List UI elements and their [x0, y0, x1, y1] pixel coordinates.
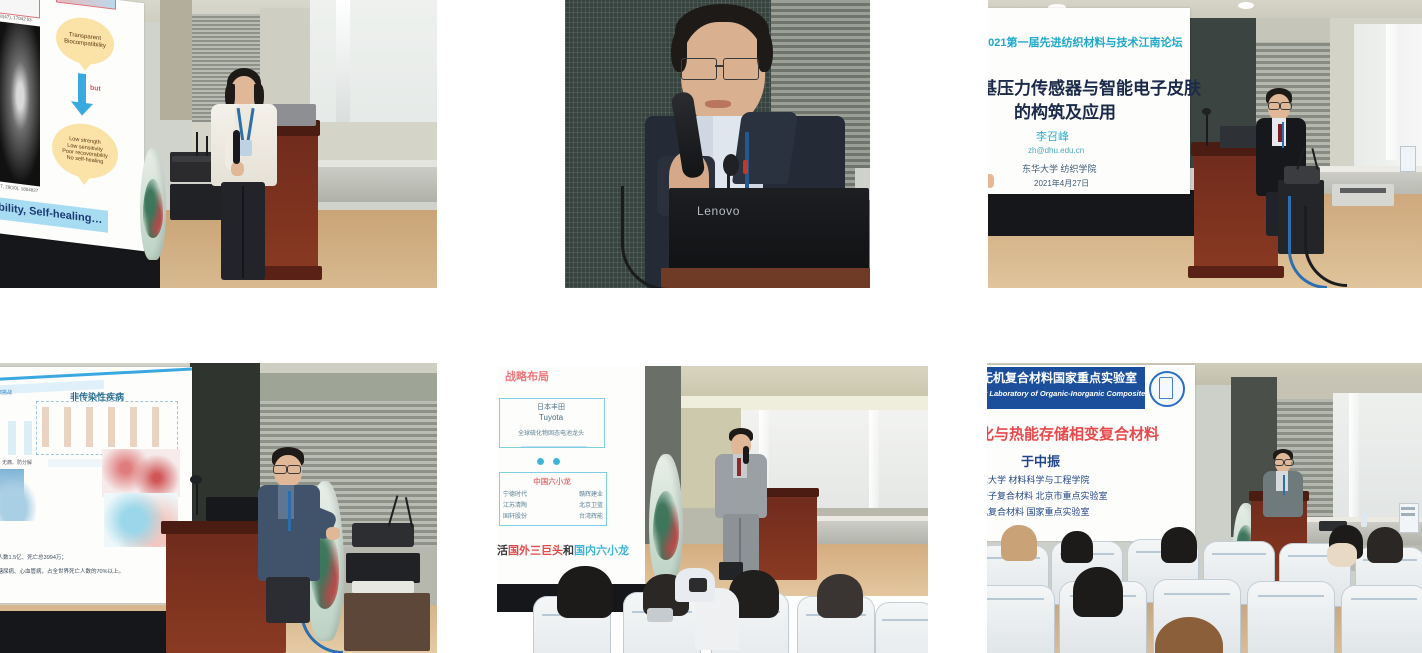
slide6-banner-en: ey Laboratory of Organic-Inorganic Compo… — [987, 389, 1149, 398]
slide1-bubble-top: Transparent Biocompatibility — [56, 14, 114, 67]
laptop-brand-label: Lenovo — [697, 204, 740, 218]
slide4-caption-row: 痛、无痛、防分解 — [0, 459, 32, 466]
slide3-presenter: 李召峰 — [1036, 128, 1069, 144]
slide4-footnote-1: 染人数1.5亿、死亡总3994万； — [0, 553, 67, 561]
slide6-aff-line2: 分子复合材料 北京市重点实验室 — [987, 489, 1108, 502]
projection-screen-1: Transparent Biocompatibility but Low str… — [0, 0, 144, 251]
slide3-email: zh@dhu.edu.cn — [1028, 146, 1084, 155]
table-row: 国轩股份 台湾辉能 — [503, 512, 603, 523]
slide3-title-line1: 基压力传感器与智能电子皮肤 — [988, 74, 1201, 99]
slide5-box-line3: 全球硫化物固态电池龙头 — [499, 428, 603, 437]
slide6-title: 化与热能存储相变复合材料 — [987, 423, 1159, 444]
table-cell: 北京卫蓝 — [579, 501, 603, 512]
glasses-icon — [681, 58, 717, 80]
slide4-left-label: 健康挑战 — [0, 389, 12, 396]
table-cell: 贛辉建业 — [579, 490, 603, 501]
table-cell: 宁德时代 — [503, 490, 527, 501]
slide3-title-line2: 的构筑及应用 — [1014, 98, 1116, 123]
slide4-footnote-2: 、糖尿病、心血管病，占全世界死亡人数的70%以上。 — [0, 567, 124, 575]
photo-1: Transparent Biocompatibility but Low str… — [0, 0, 437, 288]
photo-4: 健康挑战 非传染性疾病 病 痛、无痛、防分解 染人数1.5亿、死亡总3994万；… — [0, 363, 437, 653]
speaker-1 — [205, 68, 283, 284]
slide6-aff-line1: 工大学 材料科学与工程学院 — [987, 473, 1090, 486]
table-cell: 国轩股份 — [503, 512, 527, 523]
slide1-bubble-bottom: Low strength Low sensitivity Poor recove… — [52, 120, 118, 182]
table-row: 宁德时代 贛辉建业 — [503, 490, 603, 501]
photo-6: 无机复合材料国家重点实验室 ey Laboratory of Organic-I… — [987, 363, 1422, 653]
slide3-banner: 2021第一届先进纺织材料与技术江南论坛 — [988, 34, 1182, 50]
glasses-icon-right — [723, 58, 759, 80]
photo-2: Lenovo — [565, 0, 870, 288]
table-cell: 台湾辉能 — [579, 512, 603, 523]
slide1-arrow-label: but — [90, 85, 101, 93]
projection-screen-4: 健康挑战 非传染性疾病 病 痛、无痛、防分解 染人数1.5亿、死亡总3994万；… — [0, 367, 192, 603]
slide6-presenter: 于中振 — [1021, 451, 1060, 470]
slide5-table-title: 中国六小龙 — [499, 476, 605, 487]
table-cell: 江苏清陶 — [503, 501, 527, 512]
photo-5: 战略布局 日本丰田 Tuyota 全球硫化物固态电池龙头 中国六小龙 宁德时代 … — [497, 366, 928, 653]
slide5-box-line2: Tuyota — [499, 413, 603, 422]
slide5-heading: 战略布局 — [505, 368, 549, 384]
slide3-date: 2021年4月27日 — [1034, 178, 1089, 189]
photo-collage: Transparent Biocompatibility but Low str… — [0, 0, 1422, 653]
table-row: 江苏清陶 北京卫蓝 — [503, 501, 603, 512]
photo-3: 2021第一届先进纺织材料与技术江南论坛 基压力传感器与智能电子皮肤 的构筑及应… — [988, 0, 1422, 288]
projection-screen-3: 2021第一届先进纺织材料与技术江南论坛 基压力传感器与智能电子皮肤 的构筑及应… — [988, 8, 1190, 194]
slide6-banner-cn: 无机复合材料国家重点实验室 — [987, 369, 1137, 386]
speaker-4 — [258, 447, 344, 623]
slide5-box-line1: 日本丰田 — [499, 402, 603, 412]
laptop-2 — [669, 188, 869, 278]
slide3-affiliation: 东华大学 纺织学院 — [1022, 162, 1097, 175]
